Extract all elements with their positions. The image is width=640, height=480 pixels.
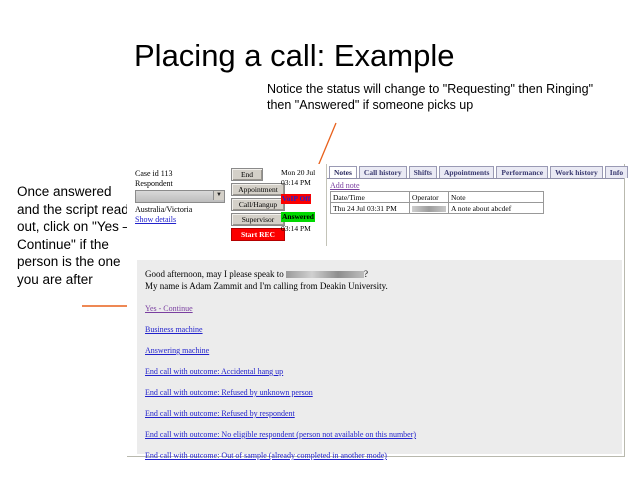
cell-note: A note about abcdef: [449, 203, 544, 214]
supervisor-button[interactable]: Supervisor: [231, 213, 285, 226]
table-header-row: Date/Time Operator Note: [331, 192, 544, 203]
call-status-block: Mon 20 Jul 03:14 PM VoIP Off Answered 03…: [281, 168, 325, 234]
timezone-label: Australia/Victoria: [135, 205, 245, 215]
tab-info[interactable]: Info: [605, 166, 628, 178]
call-state-badge: Answered: [281, 212, 315, 222]
respondent-label: Respondent: [135, 179, 245, 189]
chevron-down-icon[interactable]: ▼: [213, 191, 224, 200]
application-screenshot: Case id 113 Respondent ▼ Australia/Victo…: [127, 164, 625, 457]
link-answering-machine[interactable]: Answering machine: [145, 346, 622, 356]
appointment-button[interactable]: Appointment: [231, 183, 285, 196]
script-line-1: Good afternoon, may I please speak to ?: [145, 268, 622, 280]
link-accidental-hang-up[interactable]: End call with outcome: Accidental hang u…: [145, 367, 622, 377]
redacted-respondent-name: [286, 271, 364, 278]
cell-operator: [410, 203, 449, 214]
status-annotation-text: Notice the status will change to "Reques…: [267, 81, 597, 113]
case-details-block: Case id 113 Respondent ▼ Australia/Victo…: [135, 169, 245, 224]
column-note: Note: [449, 192, 544, 203]
tab-bar: Notes Call history Shifts Appointments P…: [327, 164, 624, 179]
link-no-eligible-respondent[interactable]: End call with outcome: No eligible respo…: [145, 430, 622, 440]
voip-status-badge: VoIP Off: [281, 194, 311, 204]
tab-shifts[interactable]: Shifts: [409, 166, 437, 178]
link-yes-continue[interactable]: Yes - Continue: [145, 304, 622, 314]
outcome-links: Yes - Continue Business machine Answerin…: [145, 304, 622, 461]
end-button[interactable]: End: [231, 168, 263, 181]
call-hangup-button[interactable]: Call/Hangup: [231, 198, 285, 211]
status-time-bottom: 03:14 PM: [281, 224, 325, 234]
start-rec-button[interactable]: Start REC: [231, 228, 285, 241]
tab-notes[interactable]: Notes: [329, 166, 357, 178]
cell-datetime: Thu 24 Jul 03:31 PM: [331, 203, 410, 214]
respondent-select[interactable]: ▼: [135, 190, 225, 203]
tab-panel: Notes Call history Shifts Appointments P…: [326, 164, 624, 246]
link-business-machine[interactable]: Business machine: [145, 325, 622, 335]
column-operator: Operator: [410, 192, 449, 203]
link-refused-respondent[interactable]: End call with outcome: Refused by respon…: [145, 409, 622, 419]
tab-call-history[interactable]: Call history: [359, 166, 407, 178]
status-time-top: 03:14 PM: [281, 178, 325, 188]
add-note-link[interactable]: Add note: [330, 181, 624, 190]
show-details-link[interactable]: Show details: [135, 215, 245, 224]
column-datetime: Date/Time: [331, 192, 410, 203]
table-row: Thu 24 Jul 03:31 PM A note about abcdef: [331, 203, 544, 214]
link-refused-unknown-person[interactable]: End call with outcome: Refused by unknow…: [145, 388, 622, 398]
script-line-2: My name is Adam Zammit and I'm calling f…: [145, 280, 622, 292]
link-out-of-sample[interactable]: End call with outcome: Out of sample (al…: [145, 451, 622, 461]
status-date: Mon 20 Jul: [281, 168, 325, 178]
tab-appointments[interactable]: Appointments: [439, 166, 494, 178]
call-control-strip: Case id 113 Respondent ▼ Australia/Victo…: [127, 164, 323, 246]
script-pane: Good afternoon, may I please speak to ? …: [137, 260, 622, 454]
tab-performance[interactable]: Performance: [496, 166, 548, 178]
notes-table: Date/Time Operator Note Thu 24 Jul 03:31…: [330, 191, 544, 214]
script-line-1-suffix: ?: [364, 269, 368, 279]
continue-annotation-text: Once answered and the script read out, c…: [17, 183, 135, 288]
redacted-operator: [412, 206, 446, 212]
page-title: Placing a call: Example: [134, 38, 455, 74]
tab-work-history[interactable]: Work history: [550, 166, 603, 178]
script-line-1-prefix: Good afternoon, may I please speak to: [145, 269, 286, 279]
case-id-label: Case id 113: [135, 169, 245, 179]
